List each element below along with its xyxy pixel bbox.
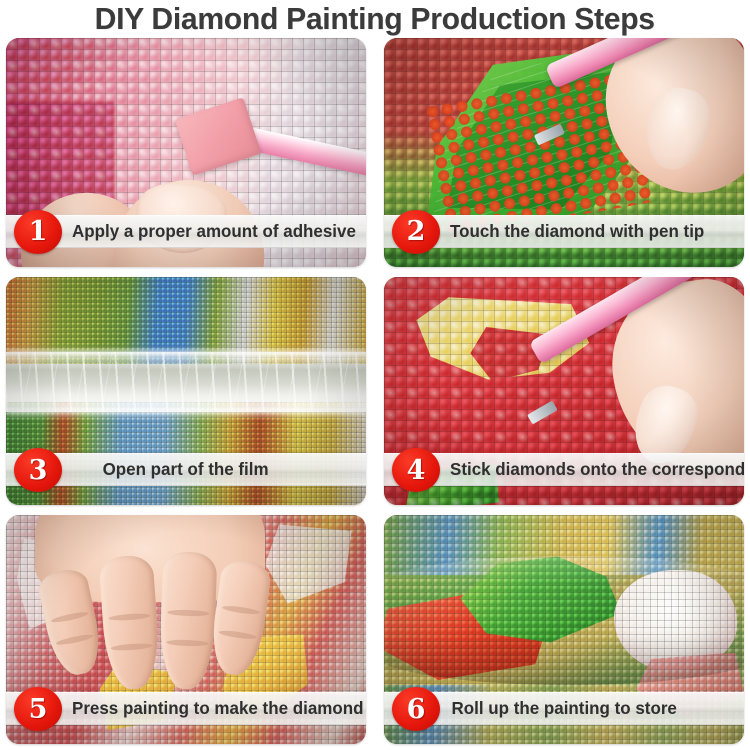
step-number-badge-4: 4	[392, 448, 440, 492]
step-2-caption-bar: 2 Touch the diamond with pen tip	[384, 215, 744, 248]
steps-grid: 1 Apply a proper amount of adhesive	[0, 38, 750, 750]
step-4-caption-text: Stick diamonds onto the corresponding ca…	[450, 459, 744, 480]
step-number-badge-1: 1	[14, 210, 62, 254]
step-1-caption-bar: 1 Apply a proper amount of adhesive	[6, 215, 366, 248]
step-panel-6[interactable]: 6 Roll up the painting to store	[384, 515, 744, 744]
step-panel-5[interactable]: 5 Press painting to make the diamond mor…	[6, 515, 366, 744]
step-6-caption-text: Roll up the painting to store	[451, 698, 676, 719]
step-3-caption-bar: 3 Open part of the film	[6, 453, 366, 486]
step-panel-3[interactable]: 3 Open part of the film	[6, 277, 366, 506]
title-bar: DIY Diamond Painting Production Steps	[0, 0, 750, 38]
step-panel-2[interactable]: 2 Touch the diamond with pen tip	[384, 38, 744, 267]
step-4-caption-bar: 4 Stick diamonds onto the corresponding …	[384, 453, 744, 486]
step-5-caption-text: Press painting to make the diamond more …	[72, 698, 366, 719]
step-3-caption-text: Open part of the film	[103, 459, 269, 480]
step-number-badge-3: 3	[14, 448, 62, 492]
step-number-badge-5: 5	[14, 687, 62, 731]
step-5-caption-bar: 5 Press painting to make the diamond mor…	[6, 692, 366, 725]
step-6-caption-bar: 6 Roll up the painting to store	[384, 692, 744, 725]
step-panel-1[interactable]: 1 Apply a proper amount of adhesive	[6, 38, 366, 267]
step-number-badge-6: 6	[392, 687, 440, 731]
step-1-caption-text: Apply a proper amount of adhesive	[72, 221, 356, 242]
step-number-badge-2: 2	[392, 210, 440, 254]
page-title: DIY Diamond Painting Production Steps	[95, 1, 655, 37]
step-panel-4[interactable]: 4 Stick diamonds onto the corresponding …	[384, 277, 744, 506]
step-2-caption-text: Touch the diamond with pen tip	[450, 221, 704, 242]
poster-page: DIY Diamond Painting Production Steps 1	[0, 0, 750, 750]
